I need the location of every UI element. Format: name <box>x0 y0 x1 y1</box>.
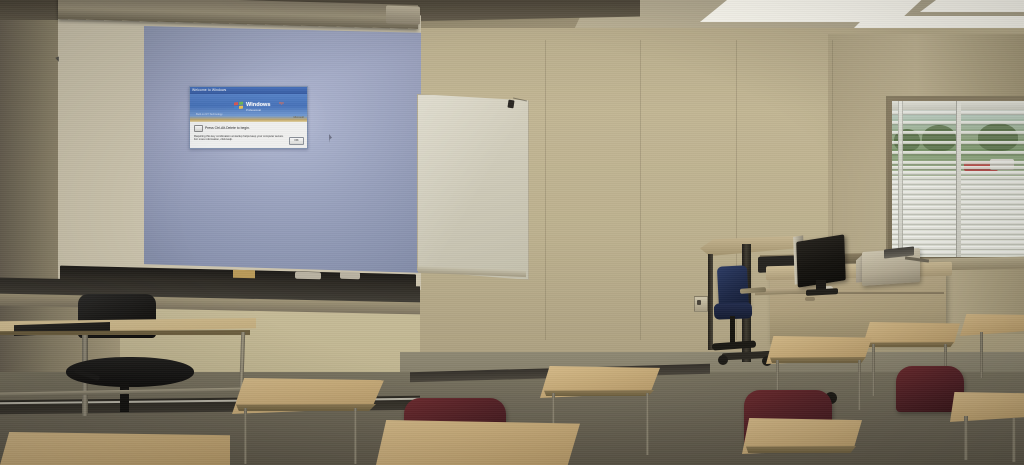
xp-nt-note: Built on NT Technology <box>196 113 223 116</box>
desk-leg <box>354 408 357 464</box>
keyboard-icon <box>194 125 203 132</box>
classroom-scene: Welcome to Windows Windows xp Profession… <box>0 0 1024 465</box>
windows-xp-welcome-dialog[interactable]: Welcome to Windows Windows xp Profession… <box>189 86 308 149</box>
podium-caster <box>718 355 728 365</box>
window-glass <box>892 101 1024 257</box>
blinds-center-stile[interactable] <box>956 101 961 257</box>
projection-vignette <box>144 26 457 274</box>
wall-panel-seam <box>545 40 546 340</box>
instructor-chair-post <box>120 382 129 412</box>
microsoft-brand-text: Microsoft <box>293 116 304 119</box>
whiteboard <box>417 94 529 280</box>
desk-edge <box>544 390 654 396</box>
desk-leg <box>646 393 649 455</box>
desk-edge <box>866 342 954 347</box>
podium-support-column <box>708 254 713 350</box>
outlet-socket-icon <box>697 300 701 305</box>
dialog-instruction: Press Ctrl-Alt-Delete to begin. <box>205 126 250 131</box>
screen-housing-end-cap <box>386 5 420 24</box>
projection-surface <box>144 26 457 274</box>
desk-leg <box>872 344 875 396</box>
ceiling-light-panel <box>920 0 1024 12</box>
desk-leg <box>1012 418 1016 462</box>
dialog-brand-banner: Windows xp Professional Built on NT Tech… <box>190 94 307 122</box>
wall-panel-seam <box>640 40 641 340</box>
student-desk-front-center[interactable] <box>376 420 580 465</box>
dialog-description: Requiring this key combination at startu… <box>194 135 286 142</box>
desk-leg <box>964 416 968 460</box>
projection-screen <box>58 8 421 290</box>
tray-eraser <box>340 272 360 279</box>
desk-leg <box>980 332 983 378</box>
xp-edition-mark: xp <box>279 101 284 105</box>
windows-flag-icon <box>234 102 243 111</box>
desk-edge <box>770 357 866 363</box>
venetian-blinds[interactable] <box>892 101 1024 257</box>
desk-leg <box>858 360 861 410</box>
tray-eraser <box>295 272 321 280</box>
dialog-titlebar: Welcome to Windows <box>190 87 307 94</box>
desk-leg <box>244 408 247 464</box>
whiteboard-marker-clip-icon <box>507 100 514 109</box>
windows-wordmark: Windows <box>246 102 271 108</box>
dialog-body: Press Ctrl-Alt-Delete to begin. Requirin… <box>190 122 307 148</box>
ok-button[interactable]: OK <box>289 137 304 145</box>
blinds-ladder-cord[interactable] <box>898 101 903 257</box>
podium-drawer-handle[interactable] <box>805 297 815 301</box>
dialog-title-text: Welcome to Windows <box>192 87 226 94</box>
whiteboard-glare <box>418 95 528 279</box>
desk-edge <box>746 446 856 453</box>
student-desk-foreground-left[interactable] <box>0 432 230 465</box>
screen-pull-tab[interactable] <box>233 270 255 279</box>
xp-edition-sub: Professional <box>246 109 261 112</box>
